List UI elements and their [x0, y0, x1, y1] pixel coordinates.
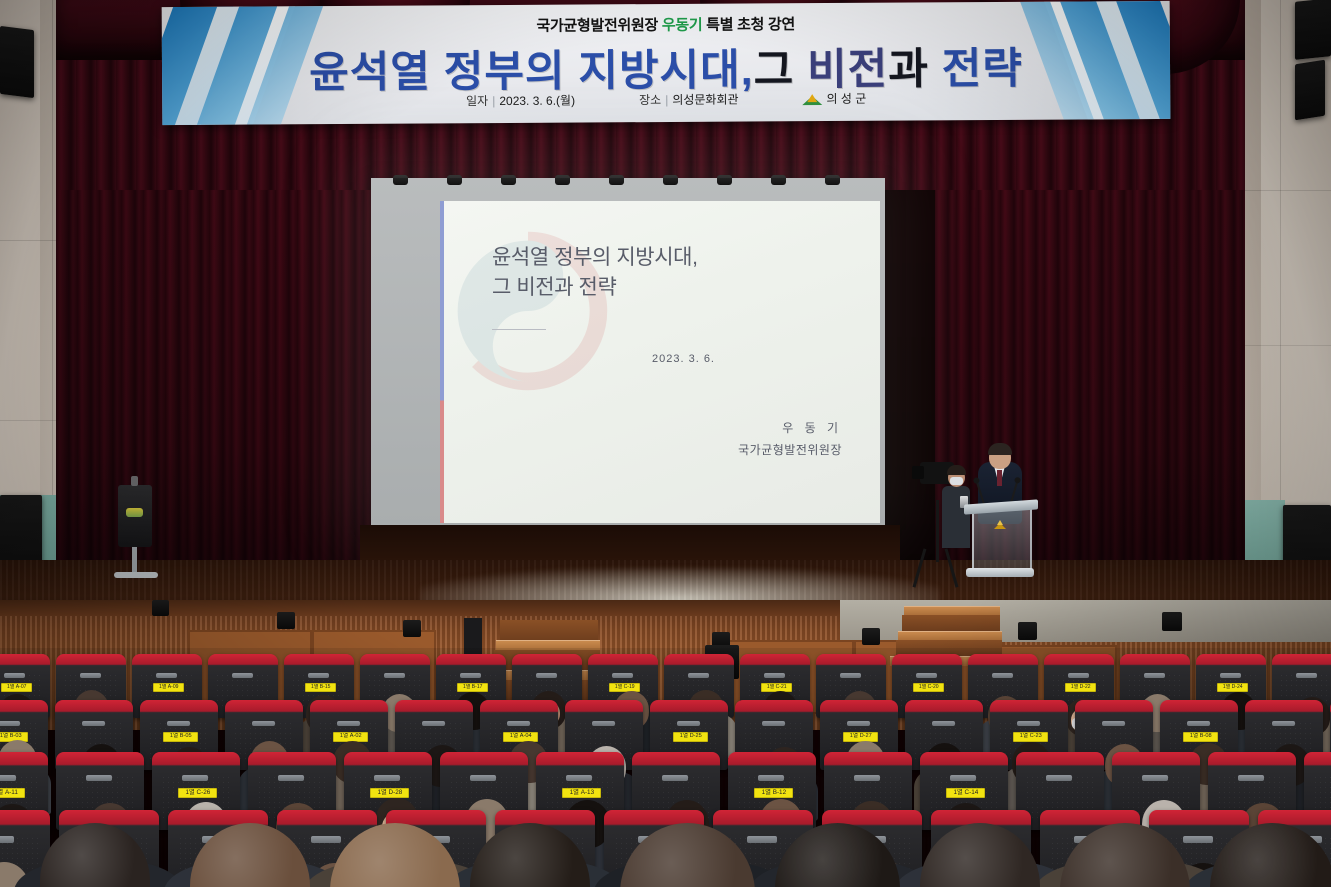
- banner-subtitle-post: 특별 초청 강연: [702, 16, 795, 34]
- tripod-leg: [936, 500, 939, 562]
- banner-sep-icon: |: [492, 94, 495, 108]
- screen-clip-icon: [501, 175, 516, 185]
- seat-plate: [536, 673, 557, 678]
- stage-back-shadow: [360, 525, 900, 565]
- seat-plate: [592, 721, 615, 726]
- slide-divider: [492, 329, 546, 330]
- screen-clip-icon: [771, 175, 786, 185]
- speaker-box-icon: [1295, 0, 1331, 60]
- seat-plate: [916, 673, 937, 678]
- screen-clip-icon: [555, 175, 570, 185]
- seat-number-tag: 1열 D-25: [673, 732, 708, 742]
- seat-plate: [460, 673, 481, 678]
- seat-plate: [308, 673, 329, 678]
- seat-plate: [80, 673, 101, 678]
- seat-plate: [688, 673, 709, 678]
- event-banner: 국가균형발전위원장 우동기 특별 초청 강연 윤석열 정부의 지방시대,그 비전…: [162, 1, 1171, 125]
- seat-plate: [0, 721, 20, 726]
- seat-number-tag: 1열 A-11: [0, 788, 25, 798]
- seat-number-tag: 1열 C-20: [913, 683, 944, 692]
- seat-number-tag: 1열 A-13: [562, 788, 601, 798]
- banner-date: 일자|2023. 3. 6.(월): [466, 92, 575, 110]
- seat-number-tag: 1열 C-23: [1013, 732, 1048, 742]
- seat-plate: [0, 836, 14, 843]
- seat-plate: [758, 775, 784, 781]
- stage-heater-knob-icon: [131, 476, 138, 486]
- speaker-tie: [997, 470, 1002, 486]
- seat-number-tag: 1열 C-26: [178, 788, 217, 798]
- seat-number-tag: 1열 D-22: [1065, 683, 1096, 692]
- banner-title-p3: 그: [753, 46, 807, 94]
- stage-monitor-speaker-icon: [152, 600, 169, 616]
- speaker-hair: [988, 443, 1012, 455]
- county-logo-label: 의 성 군: [826, 90, 866, 107]
- presentation-slide: 윤석열 정부의 지방시대, 그 비전과 전략 2023. 3. 6. 우 동 기…: [440, 201, 880, 523]
- seat-plate: [1102, 721, 1125, 726]
- seat-plate: [854, 775, 880, 781]
- screen-clip-icon: [393, 175, 408, 185]
- seat-number-tag: 1열 B-15: [305, 683, 336, 692]
- seat-plate: [1068, 673, 1089, 678]
- speaker-box-icon: [0, 26, 34, 98]
- seat-plate: [840, 673, 861, 678]
- speaker-box-icon: [1295, 60, 1325, 121]
- seat-plate: [847, 721, 870, 726]
- seat-plate: [4, 673, 25, 678]
- screen-clip-icon: [447, 175, 462, 185]
- seat-plate: [422, 721, 445, 726]
- seat-plate: [747, 836, 777, 843]
- camera-lens-icon: [912, 466, 924, 479]
- stage-monitor-speaker-icon: [403, 620, 421, 637]
- face-mask-icon: [950, 477, 963, 485]
- step-riser: [500, 620, 598, 642]
- seat-number-tag: 1열 B-17: [457, 683, 488, 692]
- stage-heater-flame-icon: [126, 508, 143, 517]
- seat-plate: [1046, 775, 1072, 781]
- slide-speaker-role: 국가균형발전위원장: [738, 441, 842, 458]
- mountain-logo-icon: [802, 93, 822, 105]
- banner-place-label: 장소: [639, 93, 661, 107]
- seat-plate: [156, 673, 177, 678]
- screen-clip-icon: [663, 175, 678, 185]
- seat-plate: [167, 721, 190, 726]
- seat-number-tag: 1열 A-09: [153, 683, 184, 692]
- seat-plate: [566, 775, 592, 781]
- seat-number-tag: 1열 D-24: [1217, 683, 1248, 692]
- projection-screen-frame: 윤석열 정부의 지방시대, 그 비전과 전략 2023. 3. 6. 우 동 기…: [371, 178, 885, 526]
- seat-plate: [1238, 775, 1264, 781]
- seat-plate: [992, 673, 1013, 678]
- seat-plate: [232, 673, 253, 678]
- wall-seam: [1236, 345, 1331, 346]
- stage-monitor-speaker-icon: [862, 628, 880, 645]
- banner-subtitle-name: 우동기: [662, 17, 703, 34]
- seat-plate: [252, 721, 275, 726]
- seat-plate: [86, 775, 112, 781]
- seat-plate: [762, 721, 785, 726]
- tripod-leg: [945, 548, 959, 587]
- county-emblem-icon: [994, 520, 1007, 529]
- seat-plate: [0, 775, 16, 781]
- wall-seam: [1236, 190, 1331, 191]
- seat-plate: [1220, 673, 1241, 678]
- videographer-hair: [947, 465, 966, 475]
- lectern-base: [966, 568, 1034, 577]
- county-logo: 의 성 군: [802, 90, 866, 107]
- slide-title: 윤석열 정부의 지방시대, 그 비전과 전략: [492, 243, 698, 303]
- stage-stand-pole: [132, 547, 137, 575]
- seat-number-tag: 1열 A-04: [503, 732, 538, 742]
- banner-title-p2: 지방시대,: [578, 46, 753, 95]
- seat-plate: [1296, 673, 1317, 678]
- seat-plate: [182, 775, 208, 781]
- seat-plate: [677, 721, 700, 726]
- step-riser: [902, 615, 1000, 631]
- banner-title-p4: 비전: [807, 46, 888, 94]
- banner-date-value: 2023. 3. 6.(월): [499, 94, 575, 108]
- seat-plate: [278, 775, 304, 781]
- seat-number-tag: 1열 D-28: [370, 788, 409, 798]
- banner-place: 장소|의성문화회관: [639, 91, 739, 109]
- seat-number-tag: 1열 B-08: [1183, 732, 1218, 742]
- seat-plate: [1183, 836, 1213, 843]
- stage-stand-base: [114, 572, 158, 578]
- seat-plate: [311, 836, 341, 843]
- seat-plate: [337, 721, 360, 726]
- seat-plate: [470, 775, 496, 781]
- banner-title-p6: 전략: [942, 45, 1023, 93]
- screen-clip-icon: [825, 175, 840, 185]
- seat-plate: [1142, 775, 1168, 781]
- seat-plate: [507, 721, 530, 726]
- seat-plate: [612, 673, 633, 678]
- seat-number-tag: 1열 D-27: [843, 732, 878, 742]
- slide-speaker-name: 우 동 기: [782, 419, 842, 436]
- seat-number-tag: 1열 B-05: [163, 732, 198, 742]
- seat-plate: [1272, 721, 1295, 726]
- stage-monitor-speaker-icon: [1162, 612, 1182, 631]
- seat-number-tag: 1열 A-07: [1, 683, 32, 692]
- auditorium-photo: 국가균형발전위원장 우동기 특별 초청 강연 윤석열 정부의 지방시대,그 비전…: [0, 0, 1331, 887]
- banner-sep-icon: |: [665, 93, 668, 107]
- audience-seating: 1열 A-071열 A-091열 B-151열 B-171열 C-191열 C-…: [0, 648, 1331, 887]
- seat-plate: [662, 775, 688, 781]
- seat-plate: [82, 721, 105, 726]
- banner-title-p1: 윤석열 정부의: [309, 48, 579, 98]
- screen-clip-icon: [717, 175, 732, 185]
- podium-and-speaker: [930, 440, 1070, 600]
- seat-plate: [384, 673, 405, 678]
- seat-plate: [950, 775, 976, 781]
- seat-plate: [1187, 721, 1210, 726]
- banner-title-p5: 과: [888, 45, 942, 93]
- seat-plate: [932, 721, 955, 726]
- slide-accent-bar: [440, 201, 444, 523]
- stage-monitor-speaker-icon: [277, 612, 295, 629]
- slide-date: 2023. 3. 6.: [652, 353, 715, 365]
- seat-number-tag: 1열 B-12: [754, 788, 793, 798]
- seat-plate: [374, 775, 400, 781]
- banner-place-value: 의성문화회관: [672, 93, 738, 107]
- screen-clip-icon: [609, 175, 624, 185]
- seat-plate: [1144, 673, 1165, 678]
- seat-plate: [764, 673, 785, 678]
- lectern-body: [972, 508, 1032, 570]
- banner-subtitle-pre: 국가균형발전위원장: [536, 17, 661, 35]
- seat-plate: [1017, 721, 1040, 726]
- banner-date-label: 일자: [466, 94, 488, 108]
- seat-number-tag: 1열 C-14: [946, 788, 985, 798]
